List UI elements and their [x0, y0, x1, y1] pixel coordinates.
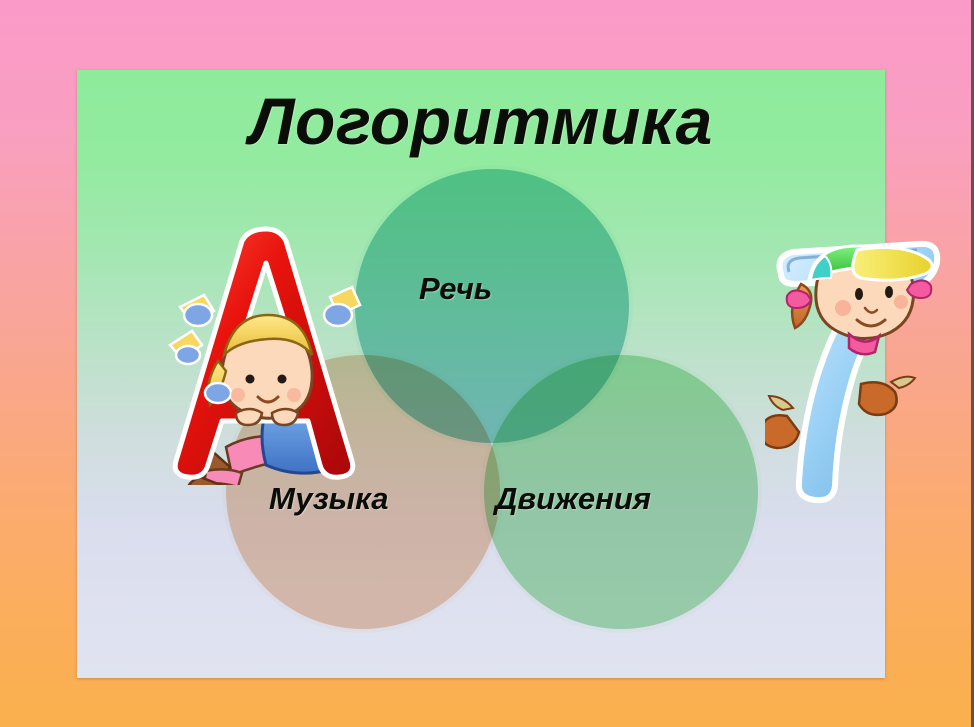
venn-label-speech: Речь [419, 271, 492, 307]
bow-decoration-right [324, 287, 360, 326]
slide-inner-panel: Логоритмика Речь Музыка Движения [77, 70, 885, 678]
venn-label-music: Музыка [269, 481, 388, 517]
venn-label-movement: Движения [495, 481, 651, 517]
page-title: Логоритмика [77, 84, 885, 158]
digit-seven-with-girl-icon [765, 238, 965, 503]
letter-a-with-girl-icon [162, 215, 377, 485]
slide-canvas: Логоритмика Речь Музыка Движения [0, 0, 974, 727]
